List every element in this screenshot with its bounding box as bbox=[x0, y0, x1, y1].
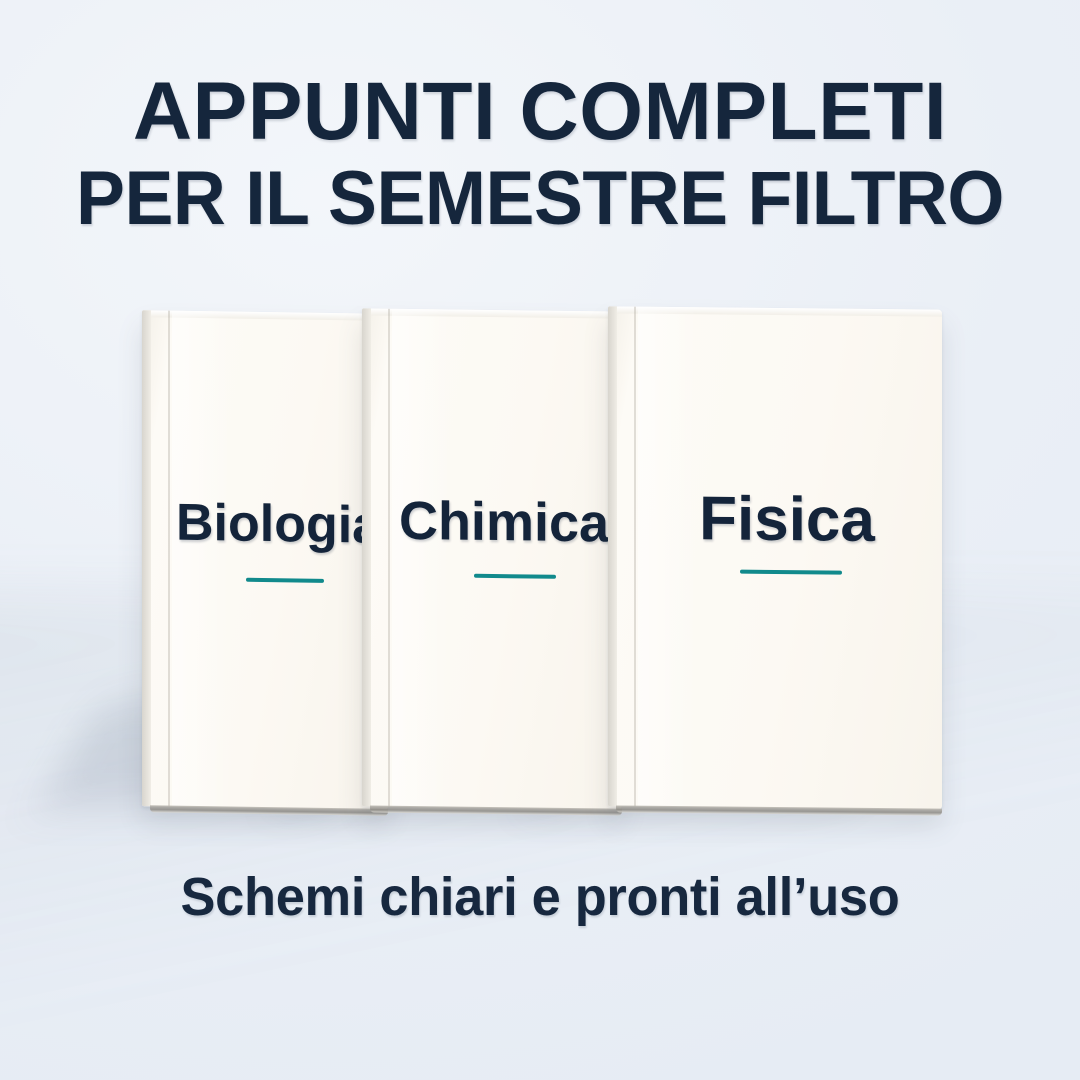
headline-line-1: APPUNTI COMPLETI bbox=[0, 72, 1080, 152]
book-spine-groove bbox=[634, 307, 636, 807]
book-cover-face bbox=[142, 310, 388, 810]
poster-canvas: APPUNTI COMPLETI PER IL SEMESTRE FILTRO … bbox=[0, 0, 1080, 1080]
book-top-edge bbox=[608, 306, 942, 316]
book-cover-fisica[interactable]: Fisica bbox=[608, 306, 942, 809]
book-title-chimica: Chimica bbox=[396, 490, 612, 555]
book-title-fisica: Fisica bbox=[642, 483, 932, 557]
book-title-biologia: Biologia bbox=[176, 493, 378, 556]
book-cover-biologia[interactable]: Biologia bbox=[142, 310, 388, 810]
book-spine-edge bbox=[362, 308, 371, 806]
book-cover-sheen bbox=[638, 307, 698, 808]
book-spine-edge bbox=[142, 310, 151, 806]
book-cover-face bbox=[362, 308, 622, 809]
book-spine-edge bbox=[608, 306, 617, 806]
book-cover-sheen bbox=[172, 311, 232, 808]
book-spine-groove bbox=[168, 311, 170, 807]
book-cover-chimica[interactable]: Chimica bbox=[362, 308, 622, 809]
book-top-edge bbox=[362, 308, 622, 318]
book-spine-groove bbox=[388, 309, 390, 807]
subtitle-text: Schemi chiari e pronti all’uso bbox=[16, 866, 1064, 928]
book-top-edge bbox=[142, 310, 388, 321]
page-title: APPUNTI COMPLETI PER IL SEMESTRE FILTRO bbox=[0, 72, 1080, 237]
book-cover-sheen bbox=[392, 309, 452, 808]
headline-line-2: PER IL SEMESTRE FILTRO bbox=[19, 162, 1061, 236]
book-cover-face bbox=[608, 306, 942, 809]
